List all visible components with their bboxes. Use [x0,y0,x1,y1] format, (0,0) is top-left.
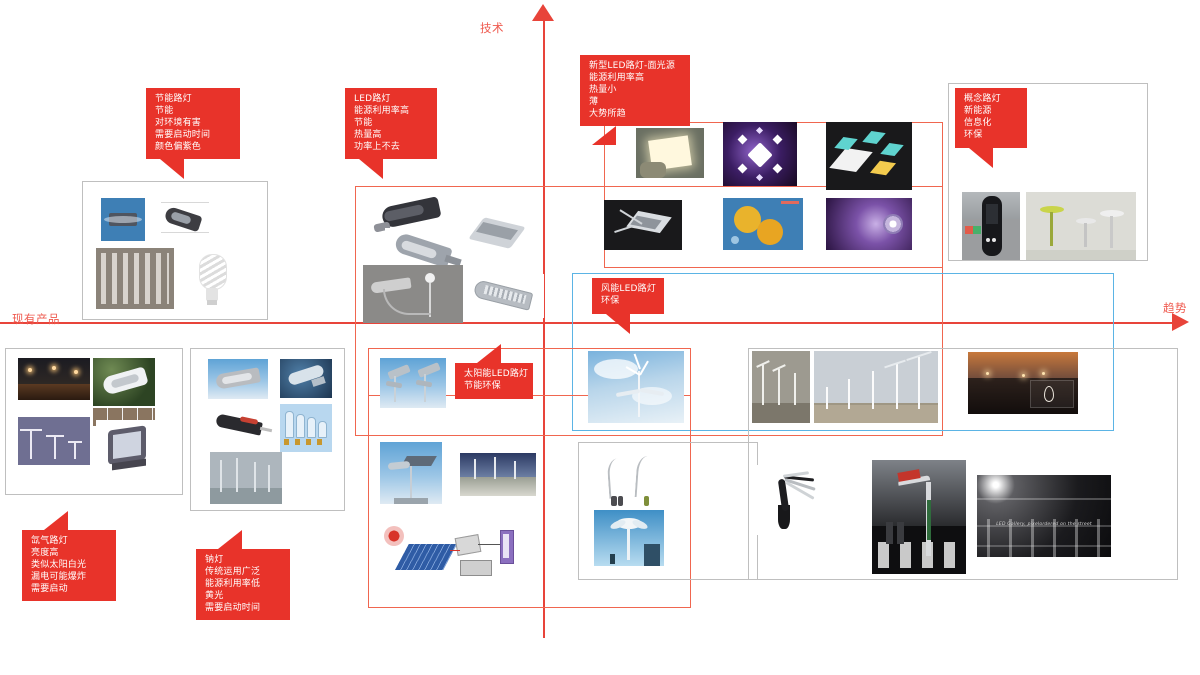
callout-line: 信息化 [964,118,1019,130]
callout-new-led-surface-source[interactable]: 新型LED路灯-面光源 能源利用率高 热量小 薄 大势所趋 [580,55,690,126]
photo-led-array-purple [723,122,797,186]
callout-line: 热量小 [589,85,682,97]
photo-led-desk-lamp-dark [604,200,682,250]
photo-solar-road-night [460,453,536,496]
photo-oled-panel-hand [636,128,704,178]
callout-line: 能源利用率高 [589,73,682,85]
photo-wind-lamp-row [752,351,810,423]
photo-xenon-pole-array [18,417,90,465]
callout-line: 节能路灯 [155,94,232,106]
photo-concept-arch-lamps [592,452,676,510]
photo-xenon-lamphead-outdoor [93,358,155,406]
callout-line: 需要启动时间 [155,130,232,142]
photo-bulb-assortment [96,248,174,309]
photo-black-fan-lamp [756,465,826,535]
callout-line: 对环境有害 [155,118,232,130]
slide-canvas: 技术 趋势 现有产品 节能路灯 节能 对环境有害 需要启动时间 [0,0,1200,675]
photo-sodium-lamp-white [210,408,274,442]
callout-solar-led-street-lamp[interactable]: 太阳能LED路灯 节能环保 [455,363,533,399]
photo-concept-tree-lamp [594,510,664,566]
callout-line: 能源利用率高 [354,106,429,118]
callout-line: 太阳能LED路灯 [464,369,525,381]
callout-line: 氙气路灯 [31,536,108,548]
photo-wind-lamp-perspective [814,351,938,423]
callout-energy-saving-lamp[interactable]: 节能路灯 节能 对环境有害 需要启动时间 颜色偏紫色 [146,88,240,159]
photo-oled-glow [826,198,912,250]
callout-line: 类似太阳白光 [31,560,108,572]
axis-label-trend: 趋势 [1163,300,1187,316]
photo-sodium-tube [280,359,332,398]
callout-xenon-street-lamp[interactable]: 氙气路灯 亮度高 类似太阳白光 漏电可能爆炸 需要启动 [22,530,116,601]
photo-concept-mushroom-lamps [1026,192,1136,260]
axis-label-existing-products: 现有产品 [12,311,60,327]
callout-line: 新型LED路灯-面光源 [589,61,682,73]
callout-line: 风能LED路灯 [601,284,656,296]
photo-led-lamphead-c [465,212,529,260]
callout-line: 新能源 [964,106,1019,118]
callout-sodium-lamp[interactable]: 钠灯 传统运用广泛 能源利用率低 黄光 需要启动时间 [196,549,290,620]
photo-energy-saving-lamphead [155,198,215,241]
photo-led-chips [826,122,912,190]
photo-solar-system-diagram [378,520,534,582]
callout-line: 黄光 [205,591,282,603]
callout-line: 节能 [354,118,429,130]
axis-arrow-up-icon [532,4,554,21]
callout-line: 环保 [601,296,656,308]
photo-wind-turbine-lamp [588,351,684,423]
callout-line: 传统运用广泛 [205,567,282,579]
photo-led-pole-rendering [363,265,463,323]
photo-cfl-bulb [182,248,244,310]
photo-sodium-highway [210,452,282,504]
callout-line: 亮度高 [31,548,108,560]
photo-solar-panel-pole [380,442,442,504]
callout-line: 热量高 [354,130,429,142]
axis-label-technology: 技术 [480,20,504,36]
callout-line: 需要启动 [31,584,108,596]
photo-osram-poster [723,198,803,250]
callout-wind-led-street-lamp[interactable]: 风能LED路灯 环保 [592,278,664,314]
callout-line: 环保 [964,130,1019,142]
callout-line: 节能环保 [464,381,525,393]
callout-line: 能源利用率低 [205,579,282,591]
photo-caption-led-gallery: LED Gallery, pixelordered on the street [977,522,1111,527]
photo-xenon-night-street [18,358,90,400]
photo-xenon-floodlight [96,420,162,474]
photo-sodium-bulb-sizes [280,404,332,452]
photo-led-gallery-street: LED Gallery, pixelordered on the street [977,475,1111,557]
photo-solar-led-pair [380,358,446,408]
callout-line: 需要启动时间 [205,603,282,615]
callout-line: 漏电可能爆炸 [31,572,108,584]
callout-line: 功率上不去 [354,142,429,154]
photo-smart-pole-crosswalk [872,460,966,574]
callout-line: LED路灯 [354,94,429,106]
photo-concept-digital-pole [962,192,1020,260]
callout-led-street-lamp[interactable]: LED路灯 能源利用率高 节能 热量高 功率上不去 [345,88,437,159]
callout-line: 钠灯 [205,555,282,567]
photo-energy-saving-module [101,198,145,241]
photo-sodium-lamphead-sky [208,359,268,399]
callout-line: 节能 [155,106,232,118]
callout-line: 薄 [589,97,682,109]
callout-line: 颜色偏紫色 [155,142,232,154]
callout-line: 概念路灯 [964,94,1019,106]
photo-led-lamphead-d [466,274,544,318]
photo-dusk-beach-lamps [968,352,1078,414]
callout-line: 大势所趋 [589,109,682,121]
callout-concept-street-lamp[interactable]: 概念路灯 新能源 信息化 环保 [955,88,1027,148]
